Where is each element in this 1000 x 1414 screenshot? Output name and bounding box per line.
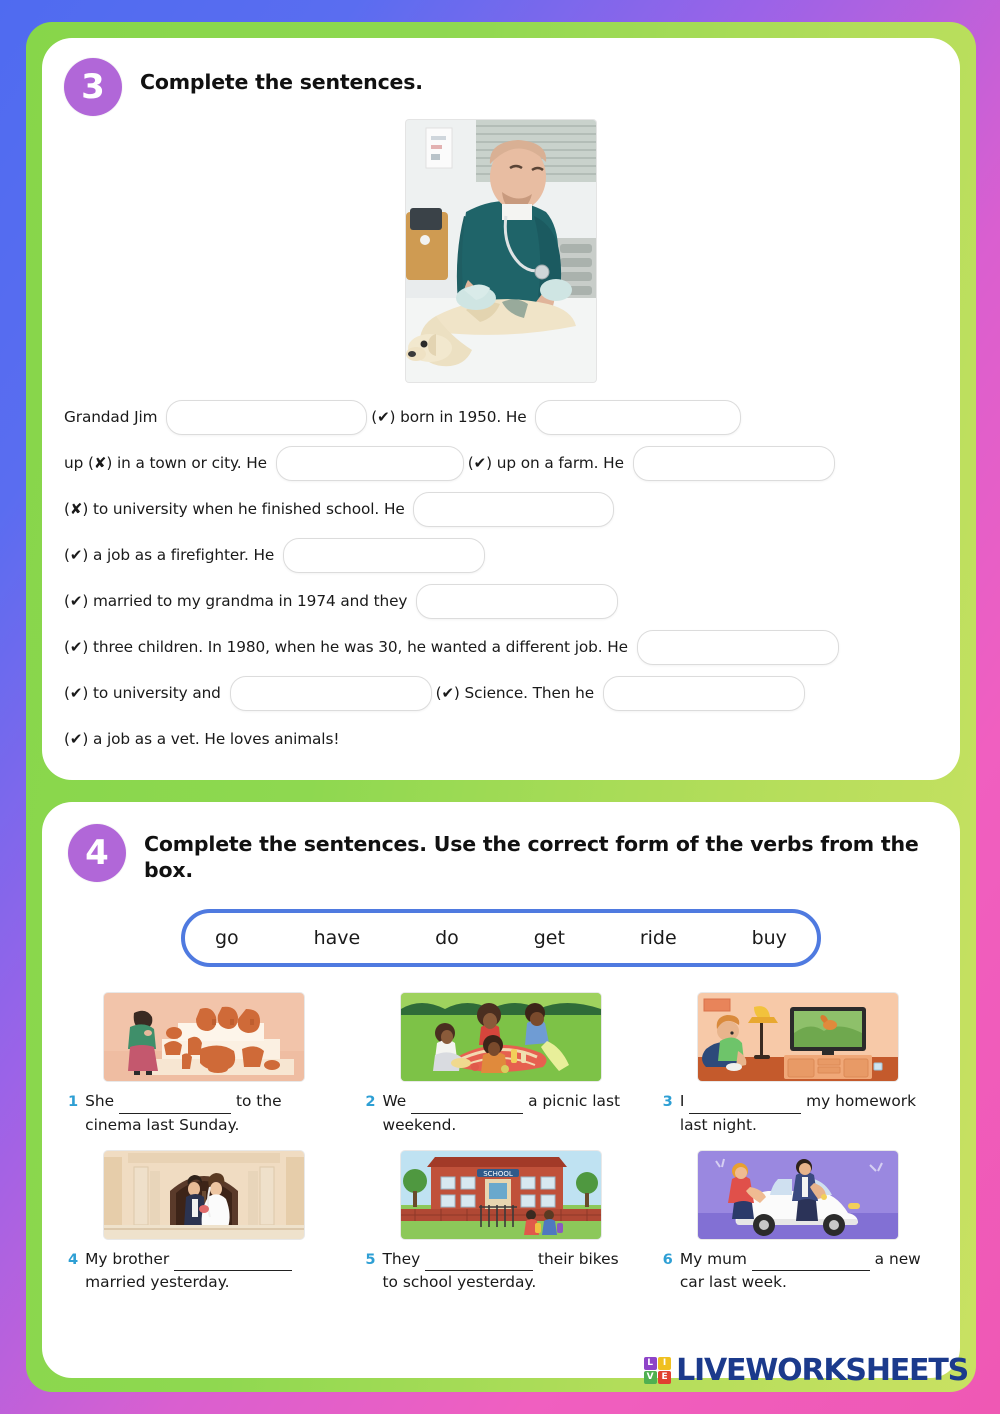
liveworksheets-logo: LIVE LIVEWORKSHEETS [644,1353,968,1388]
cross-mark-icon: ✘ [70,500,82,518]
answer-blank-line[interactable] [411,1099,523,1114]
answer-blank-line[interactable] [119,1099,231,1114]
check-mark-icon: ✔ [441,684,453,702]
item-number: 4 [68,1248,78,1271]
item-sentence: They their bikes to school yesterday. [382,1248,636,1295]
check-mark-icon: ✔ [70,730,82,748]
question-line: 6My mum a new car last week. [663,1248,934,1295]
check-mark-icon: ✔ [70,546,82,564]
question-line: 1She to the cinema last Sunday. [68,1090,339,1137]
live-logo-letter-e: E [658,1371,671,1384]
sentence-before-blank: They [382,1250,425,1268]
liveworksheets-wordmark: LIVEWORKSHEETS [676,1353,968,1388]
live-logo-letter-l: L [644,1357,657,1370]
sentence-text: ) a job as a firefighter. He [82,546,279,564]
vet-examining-dog-photo [406,120,596,382]
item-sentence: I my homework last night. [680,1090,934,1137]
question-line: 5They their bikes to school yesterday. [365,1248,636,1295]
question-line: 4My brother married yesterday. [68,1248,339,1295]
exercise-4-item-5: SCHOOL 5They their [365,1151,636,1295]
buying-new-car-illustration [698,1151,898,1239]
sentence-text: ) married to my grandma in 1974 and they [82,592,412,610]
live-logo-letter-i: I [658,1357,671,1370]
answer-input-2[interactable] [535,400,741,435]
answer-input-4[interactable] [633,446,835,481]
exercise-4-header: 4 Complete the sentences. Use the correc… [68,824,934,883]
sentence-text: ) born in 1950. He [390,408,532,426]
question-line: 3I my homework last night. [663,1090,934,1137]
live-logo-squares: LIVE [644,1357,672,1385]
answer-input-1[interactable] [166,400,367,435]
verb-option-go[interactable]: go [215,927,239,949]
answer-blank-line[interactable] [689,1099,801,1114]
sentence-text: up ( [64,454,94,472]
sentence-before-blank: We [382,1092,411,1110]
sentence-text: Grandad Jim [64,408,162,426]
verb-option-ride[interactable]: ride [640,927,677,949]
exercise-4-item-6: 6My mum a new car last week. [663,1151,934,1295]
check-mark-icon: ✔ [70,684,82,702]
sentence-before-blank: She [85,1092,119,1110]
sentence-text: ) to university and [82,684,225,702]
exercise-4-item-4: 4My brother married yesterday. [68,1151,339,1295]
answer-blank-line[interactable] [752,1256,870,1271]
item-sentence: We a picnic last weekend. [382,1090,636,1137]
live-logo-letter-v: V [644,1371,657,1384]
item-number: 2 [365,1090,375,1113]
exercise-4-title: Complete the sentences. Use the correct … [144,824,934,883]
answer-input-6[interactable] [283,538,485,573]
answer-input-10[interactable] [603,676,805,711]
answer-input-8[interactable] [637,630,839,665]
exercise-3-header: 3 Complete the sentences. [64,58,938,116]
exercise-4-card: 4 Complete the sentences. Use the correc… [42,802,960,1378]
item-number: 1 [68,1090,78,1113]
exercise-4-number-badge: 4 [68,824,126,882]
question-line: 2We a picnic last weekend. [365,1090,636,1137]
sentence-text: ) to university when he finished school.… [82,500,409,518]
verb-option-buy[interactable]: buy [752,927,787,949]
svg-text:SCHOOL: SCHOOL [483,1170,513,1178]
sentence-text: ) up on a farm. He [486,454,629,472]
verb-option-get[interactable]: get [534,927,565,949]
exercise-3-number-badge: 3 [64,58,122,116]
verb-word-box: gohavedogetridebuy [181,909,821,967]
exercise-3-card: 3 Complete the sentences. [42,38,960,780]
worksheet-page: 3 Complete the sentences. [0,0,1000,1414]
sentence-text: ) three children. In 1980, when he was 3… [82,638,632,656]
school-building-illustration: SCHOOL [401,1151,601,1239]
sentence-before-blank: My mum [680,1250,752,1268]
answer-blank-line[interactable] [174,1256,292,1271]
exercise-3-photo-wrapper [64,120,938,382]
answer-input-3[interactable] [276,446,464,481]
family-picnic-illustration [401,993,601,1081]
exercise-4-item-3: 3I my homework last night. [663,993,934,1137]
cross-mark-icon: ✘ [94,454,106,472]
check-mark-icon: ✔ [70,592,82,610]
sentence-before-blank: My brother [85,1250,174,1268]
item-sentence: My mum a new car last week. [680,1248,934,1295]
worksheet-inner-background: 3 Complete the sentences. [26,22,976,1392]
verb-option-do[interactable]: do [435,927,459,949]
check-mark-icon: ✔ [474,454,486,472]
sentence-text: ) Science. Then he [454,684,599,702]
exercise-4-item-2: 2We a picnic last weekend. [365,993,636,1137]
item-number: 5 [365,1248,375,1271]
answer-input-5[interactable] [413,492,614,527]
exercise-3-paragraph: Grandad Jim (✔) born in 1950. He up (✘) … [64,394,938,762]
wedding-couple-illustration [104,1151,304,1239]
boy-watching-tv-illustration [698,993,898,1081]
sentence-text: ) a job as a vet. He loves animals! [82,730,339,748]
museum-pottery-illustration [104,993,304,1081]
exercise-4-items-grid: 1She to the cinema last Sunday. [68,993,934,1295]
answer-blank-line[interactable] [425,1256,533,1271]
item-number: 6 [663,1248,673,1271]
check-mark-icon: ✔ [70,638,82,656]
sentence-text: ) in a town or city. He [106,454,271,472]
exercise-4-item-1: 1She to the cinema last Sunday. [68,993,339,1137]
exercise-3-title: Complete the sentences. [140,58,423,96]
verb-option-have[interactable]: have [314,927,361,949]
item-number: 3 [663,1090,673,1113]
answer-input-9[interactable] [230,676,432,711]
check-mark-icon: ✔ [377,408,389,426]
item-sentence: My brother married yesterday. [85,1248,339,1295]
sentence-before-blank: I [680,1092,689,1110]
sentence-after-blank: married yesterday. [85,1273,229,1291]
answer-input-7[interactable] [416,584,618,619]
item-sentence: She to the cinema last Sunday. [85,1090,339,1137]
